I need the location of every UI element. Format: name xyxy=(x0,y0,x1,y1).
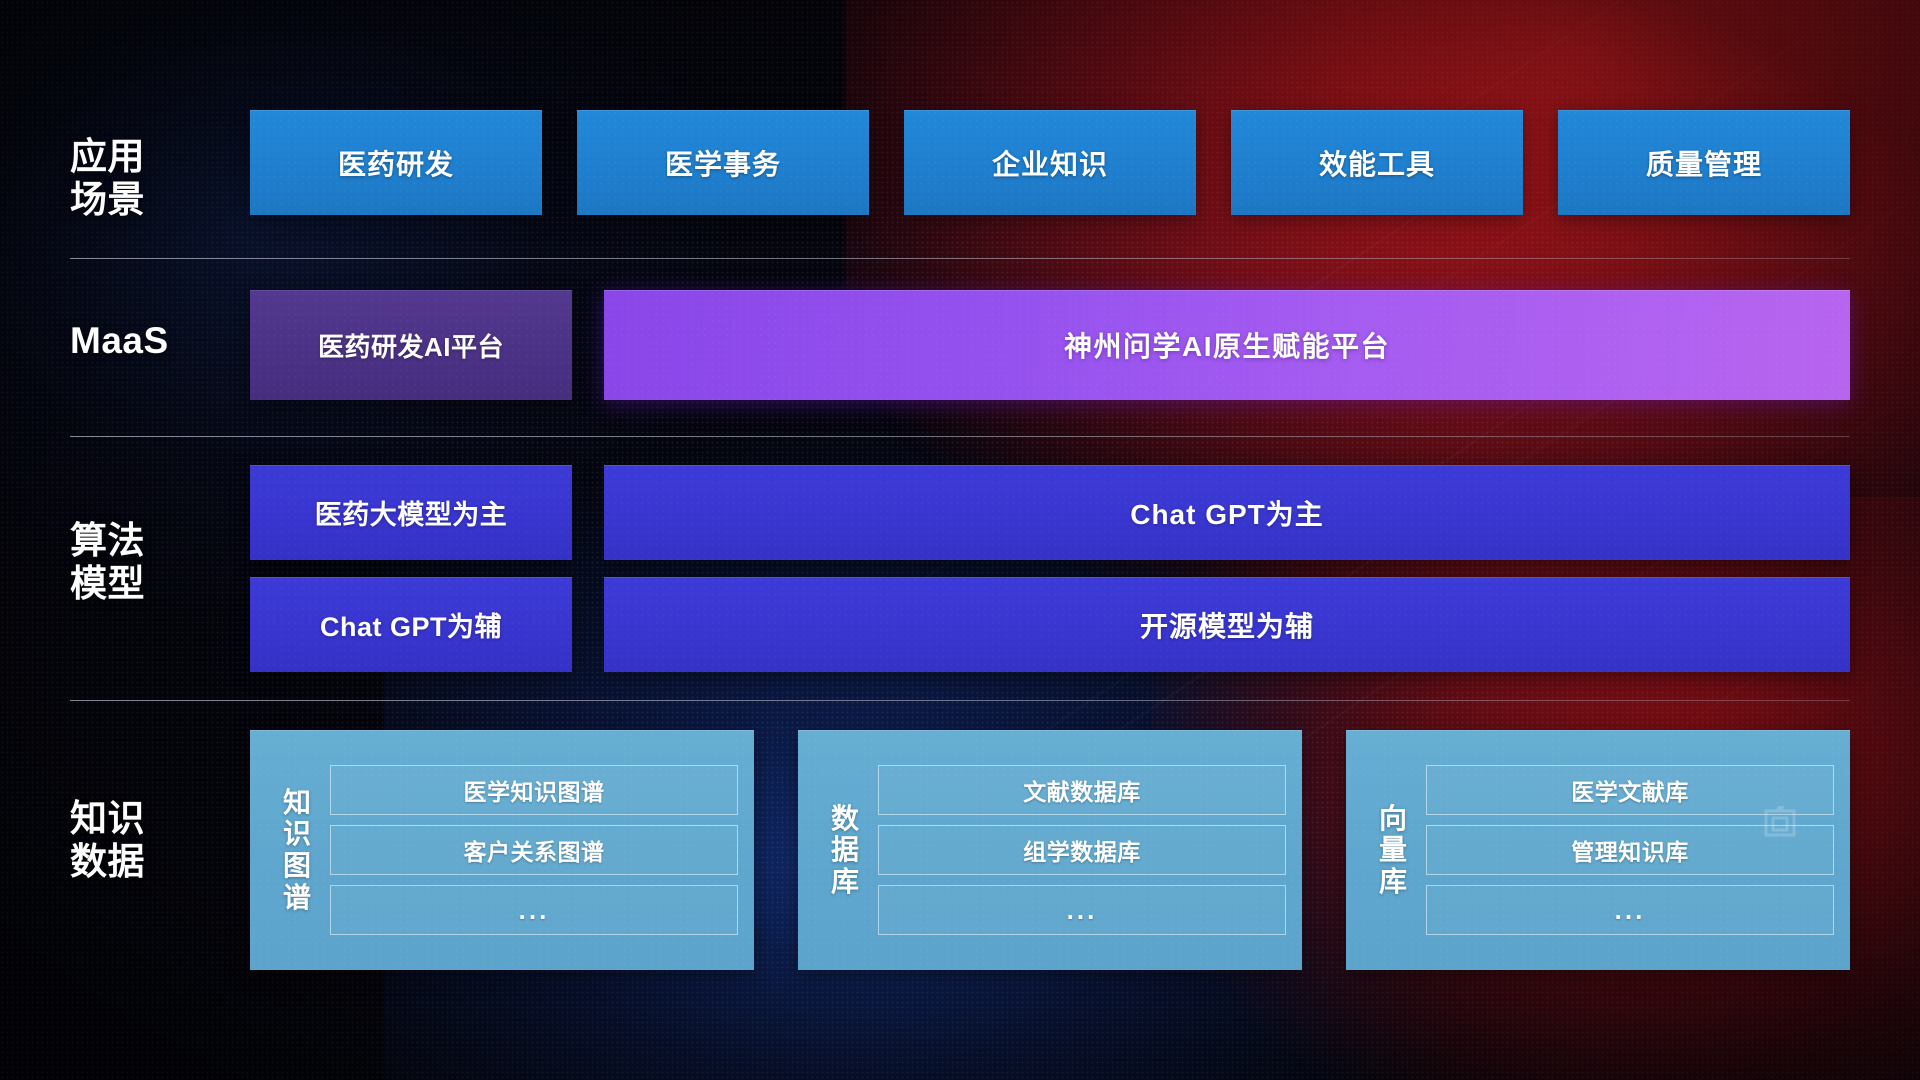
knowledge-group-vector-store[interactable]: 向 量 库 医学文献库 管理知识库 ... xyxy=(1346,730,1850,970)
app-card-quality-management[interactable]: 质量管理 xyxy=(1558,110,1850,215)
row-label-line-1: 知识 xyxy=(70,798,230,841)
vtitle-char: 图 xyxy=(283,850,311,882)
knowledge-item-more-1[interactable]: ... xyxy=(330,885,738,935)
vtitle-char: 知 xyxy=(283,787,311,819)
vtitle-char: 识 xyxy=(283,818,311,850)
row-label-algorithm-model: 算法 模型 xyxy=(70,520,230,606)
divider-after-applications xyxy=(70,258,1850,259)
vtitle-char: 据 xyxy=(831,834,859,866)
row-label-maas: MaaS xyxy=(70,320,230,363)
knowledge-item-customer-relation-graph[interactable]: 客户关系图谱 xyxy=(330,825,738,875)
knowledge-group-title-database: 数 据 库 xyxy=(812,744,878,956)
knowledge-item-more-3[interactable]: ... xyxy=(1426,885,1834,935)
knowledge-items-knowledge-graph: 医学知识图谱 客户关系图谱 ... xyxy=(330,744,738,956)
vtitle-char: 谱 xyxy=(283,882,311,914)
app-card-medicine-rd[interactable]: 医药研发 xyxy=(250,110,542,215)
vtitle-char: 库 xyxy=(1379,866,1407,898)
algorithm-line-secondary: Chat GPT为辅 开源模型为辅 xyxy=(250,577,1850,672)
row-maas: MaaS 医药研发AI平台 神州问学AI原生赋能平台 xyxy=(0,290,1920,400)
row-algorithm-model: 算法 模型 医药大模型为主 Chat GPT为主 Chat GPT为辅 开源模型… xyxy=(0,465,1920,675)
algorithm-line-primary: 医药大模型为主 Chat GPT为主 xyxy=(250,465,1850,560)
maas-card-medicine-ai-platform[interactable]: 医药研发AI平台 xyxy=(250,290,572,400)
maas-cards: 医药研发AI平台 神州问学AI原生赋能平台 xyxy=(250,290,1850,400)
knowledge-items-vector-store: 医学文献库 管理知识库 ... xyxy=(1426,744,1834,956)
algo-card-chatgpt-primary[interactable]: Chat GPT为主 xyxy=(604,465,1850,560)
vtitle-char: 量 xyxy=(1379,834,1407,866)
row-label-line-2: 场景 xyxy=(70,179,230,222)
knowledge-group-title-knowledge-graph: 知 识 图 谱 xyxy=(264,744,330,956)
row-label-line-1: 算法 xyxy=(70,520,230,563)
app-card-enterprise-knowledge[interactable]: 企业知识 xyxy=(904,110,1196,215)
watermark-icon xyxy=(1760,802,1800,842)
row-application-scenarios: 应用 场景 医药研发 医学事务 企业知识 效能工具 质量管理 xyxy=(0,110,1920,215)
algo-card-medicine-large-model-primary[interactable]: 医药大模型为主 xyxy=(250,465,572,560)
row-knowledge-data: 知识 数据 知 识 图 谱 医学知识图谱 客户关系图谱 ... xyxy=(0,730,1920,970)
knowledge-item-literature-database[interactable]: 文献数据库 xyxy=(878,765,1286,815)
algo-card-opensource-secondary[interactable]: 开源模型为辅 xyxy=(604,577,1850,672)
knowledge-item-medical-knowledge-graph[interactable]: 医学知识图谱 xyxy=(330,765,738,815)
row-label-line-2: 数据 xyxy=(70,841,230,884)
knowledge-groups: 知 识 图 谱 医学知识图谱 客户关系图谱 ... 数 据 库 xyxy=(250,730,1850,970)
diagram-stage: 应用 场景 医药研发 医学事务 企业知识 效能工具 质量管理 MaaS 医药研发… xyxy=(0,0,1920,1080)
vtitle-char: 库 xyxy=(831,866,859,898)
knowledge-group-database[interactable]: 数 据 库 文献数据库 组学数据库 ... xyxy=(798,730,1302,970)
algo-card-chatgpt-secondary[interactable]: Chat GPT为辅 xyxy=(250,577,572,672)
row-label-line-2: 模型 xyxy=(70,563,230,606)
knowledge-item-more-2[interactable]: ... xyxy=(878,885,1286,935)
row-label-application-scenarios: 应用 场景 xyxy=(70,136,230,222)
maas-card-shenzhou-wenxue-platform[interactable]: 神州问学AI原生赋能平台 xyxy=(604,290,1850,400)
divider-after-algorithm xyxy=(70,700,1850,701)
knowledge-group-knowledge-graph[interactable]: 知 识 图 谱 医学知识图谱 客户关系图谱 ... xyxy=(250,730,754,970)
knowledge-item-omics-database[interactable]: 组学数据库 xyxy=(878,825,1286,875)
vtitle-char: 数 xyxy=(831,803,859,835)
knowledge-group-title-vector-store: 向 量 库 xyxy=(1360,744,1426,956)
app-card-medical-affairs[interactable]: 医学事务 xyxy=(577,110,869,215)
row-label-knowledge-data: 知识 数据 xyxy=(70,798,230,884)
row-label-line-1: 应用 xyxy=(70,136,230,179)
app-card-efficiency-tools[interactable]: 效能工具 xyxy=(1231,110,1523,215)
application-scenario-cards: 医药研发 医学事务 企业知识 效能工具 质量管理 xyxy=(250,110,1850,215)
vtitle-char: 向 xyxy=(1379,803,1407,835)
divider-after-maas xyxy=(70,436,1850,437)
knowledge-items-database: 文献数据库 组学数据库 ... xyxy=(878,744,1286,956)
